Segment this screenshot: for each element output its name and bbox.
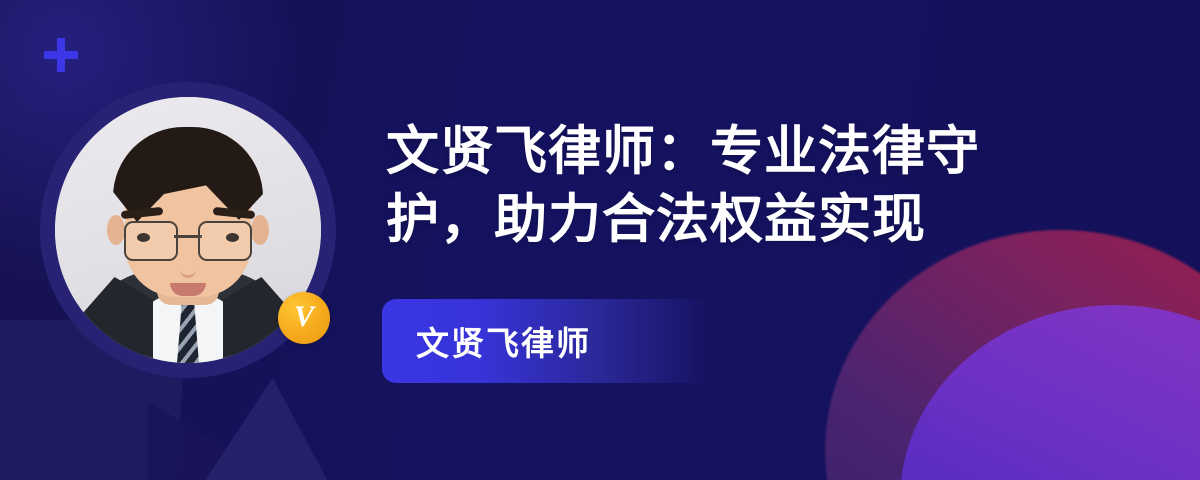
glasses-lens-right xyxy=(198,221,252,261)
glasses-icon xyxy=(124,221,252,259)
page-title: 文贤飞律师：专业法律守 护，助力合法权益实现 xyxy=(386,118,1086,254)
verified-badge-icon: V xyxy=(278,292,330,344)
lawyer-name-label: 文贤飞律师 xyxy=(382,317,591,365)
glasses-lens-left xyxy=(124,221,178,261)
bottom-right-crimson-orb xyxy=(825,230,1200,480)
banner-content: 文贤飞律师：专业法律守 护，助力合法权益实现 文贤飞律师 xyxy=(386,118,1086,254)
plus-icon xyxy=(44,38,78,72)
lawyer-promo-banner: V 文贤飞律师：专业法律守 护，助力合法权益实现 文贤飞律师 xyxy=(0,0,1200,480)
lawyer-name-pill[interactable]: 文贤飞律师 xyxy=(382,299,712,383)
portrait-ear-left xyxy=(107,215,125,245)
portrait-nose xyxy=(180,255,196,278)
verified-badge-label: V xyxy=(294,302,314,332)
avatar-ring: V xyxy=(40,82,336,378)
portrait-ear-right xyxy=(251,215,269,245)
bottom-right-violet-orb xyxy=(900,305,1200,480)
